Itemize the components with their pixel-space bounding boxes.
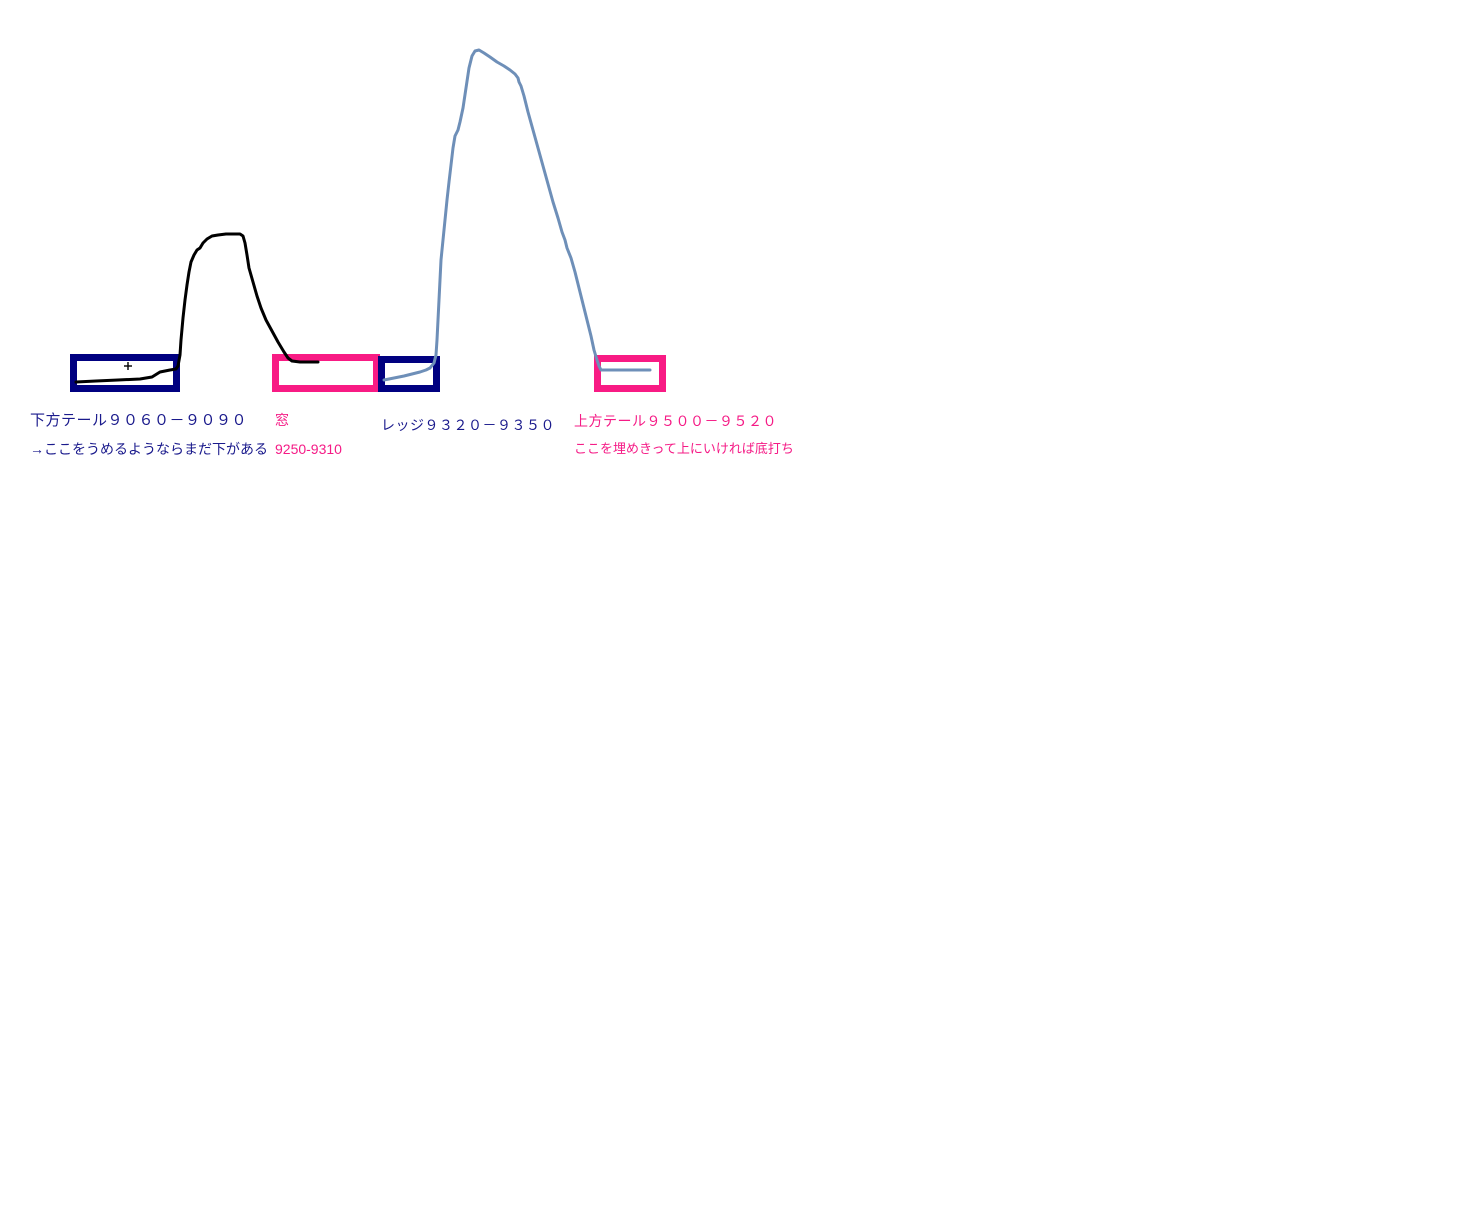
upper-tail-label-title: 上方テール９５００－９５２０ — [574, 413, 777, 431]
upper-tail-label-note: ここを埋めきって上にいければ底打ち — [574, 441, 794, 457]
chart-background — [0, 0, 1476, 1208]
lower-tail-label-title: 下方テール９０６０－９０９０ — [30, 412, 247, 431]
lower-tail-label-note: →ここをうめるようならまだ下がある — [30, 441, 268, 459]
chart-drawing-surface — [0, 0, 1476, 1208]
window-label-title: 窓 — [275, 412, 289, 430]
ledge-label-title: レッジ９３２０－９３５０ — [381, 417, 555, 435]
window-label-range: 9250-9310 — [275, 441, 342, 459]
annotated-chart-canvas: 下方テール９０６０－９０９０ →ここをうめるようならまだ下がある 窓 9250-… — [0, 0, 1476, 1208]
